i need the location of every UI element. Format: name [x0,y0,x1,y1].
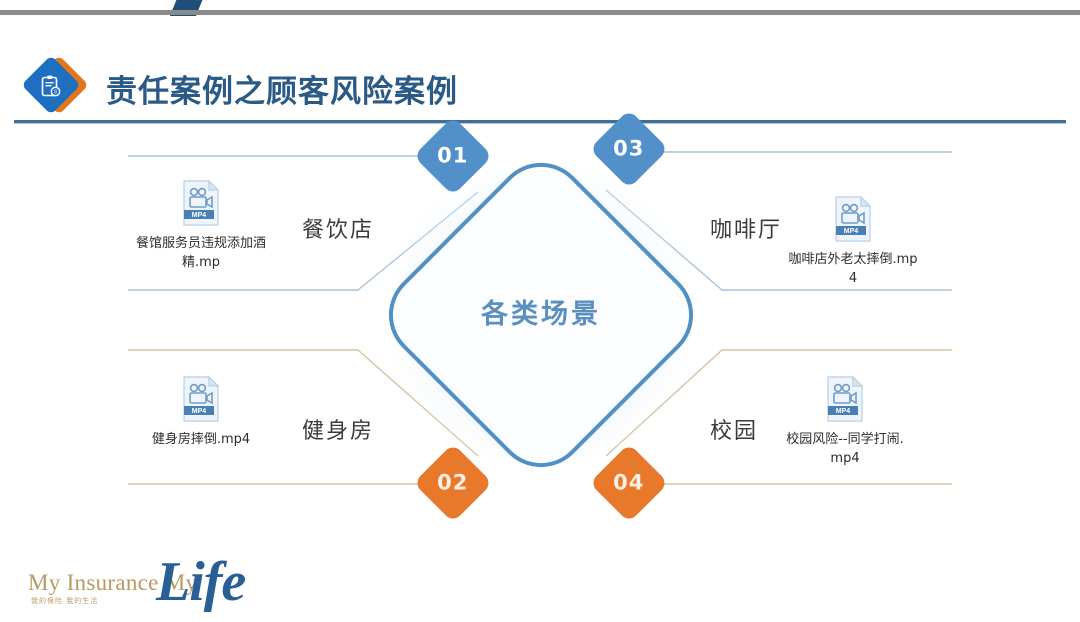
mp4-file-icon: MP4 [180,376,222,422]
svg-text:MP4: MP4 [844,228,859,235]
mp4-file-icon: MP4 [180,180,222,226]
top-divider-rule [0,10,1080,15]
scene-label-restaurant: 餐饮店 [302,212,374,244]
step-badge-03-label: 03 [613,137,644,161]
file-item-gym[interactable]: MP4 健身房摔倒.mp4 [136,376,266,449]
file-name-restaurant: 餐馆服务员违规添加酒精.mp [136,234,266,272]
step-badge-04-label: 04 [613,471,644,495]
file-item-cafe[interactable]: MP4 咖啡店外老太摔倒.mp4 [788,196,918,288]
file-name-gym: 健身房摔倒.mp4 [136,430,266,449]
mp4-file-icon: MP4 [824,376,866,422]
logo-sub-text: 我的保险 我的生活 [31,596,98,606]
svg-text:MP4: MP4 [836,408,851,415]
center-label: 各类场景 [421,292,661,331]
svg-text:MP4: MP4 [192,408,207,415]
scene-label-gym: 健身房 [302,413,374,445]
file-item-restaurant[interactable]: MP4 餐馆服务员违规添加酒精.mp [136,180,266,272]
brand-logo: My Insurance My 我的保险 我的生活 Life [28,556,288,612]
file-name-cafe: 咖啡店外老太摔倒.mp4 [788,250,918,288]
step-badge-02-label: 02 [437,471,468,495]
slide-canvas: 8 责任案例之顾客风险案例 各类场景 01 [0,0,1080,622]
logo-script-text: Life [156,550,245,614]
svg-text:8: 8 [54,90,57,96]
file-name-campus: 校园风险--同学打闹.mp4 [780,430,910,468]
svg-text:MP4: MP4 [192,212,207,219]
scene-label-campus: 校园 [710,413,758,445]
scene-label-cafe: 咖啡厅 [710,212,782,244]
clipboard-icon: 8 [41,75,61,98]
file-item-campus[interactable]: MP4 校园风险--同学打闹.mp4 [780,376,910,468]
mp4-file-icon: MP4 [832,196,874,242]
step-badge-01-label: 01 [437,144,468,168]
slide-header: 8 责任案例之顾客风险案例 [0,24,1080,96]
diagram-area: 各类场景 01 03 02 04 餐饮店 咖啡厅 健身房 校园 [0,104,1080,544]
